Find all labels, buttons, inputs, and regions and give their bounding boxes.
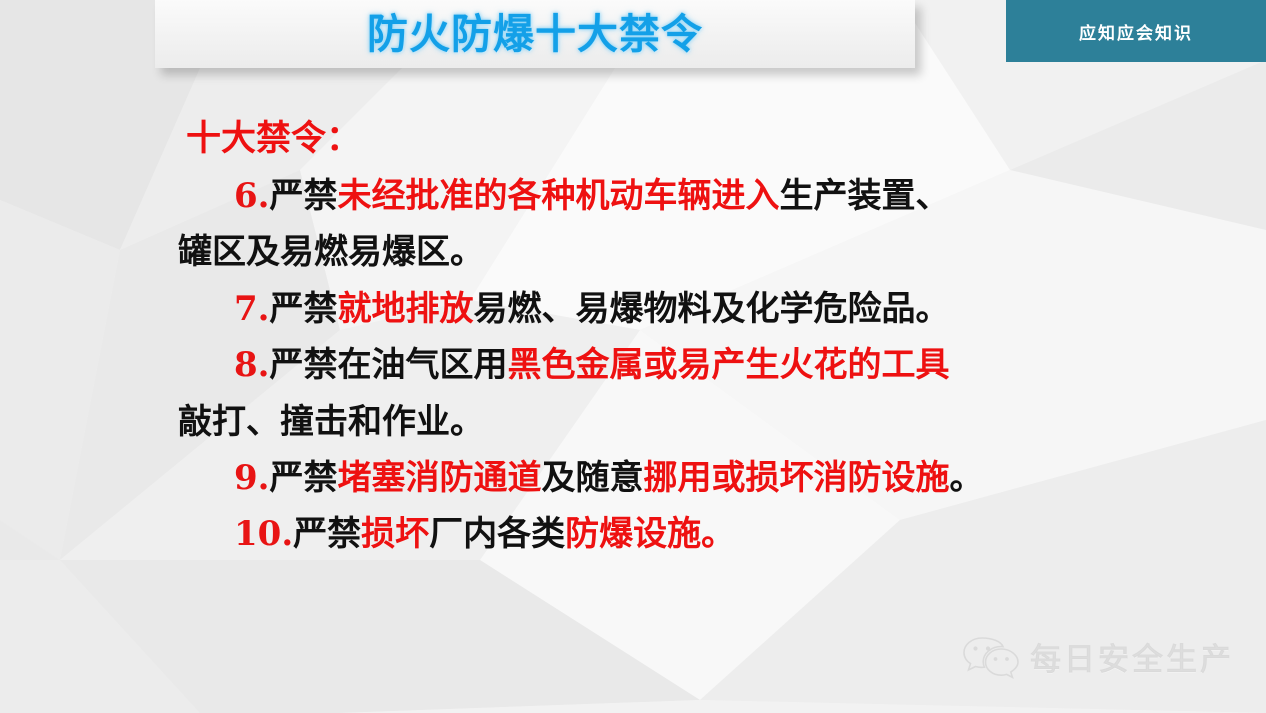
rule-line: 9.严禁堵塞消防通道及随意挪用或损坏消防设施。 [0, 450, 1266, 506]
rule-line: 10.严禁损坏厂内各类防爆设施。 [0, 506, 1266, 562]
title-banner: 防火防爆十大禁令 [155, 0, 915, 68]
rule-segment: 。 [950, 458, 984, 498]
rule-segment: 堵塞消防通道 [338, 458, 542, 498]
slide-canvas: 防火防爆十大禁令 应知应会知识 十大禁令： 6.严禁未经批准的各种机动车辆进入生… [0, 0, 1266, 713]
rule-segment: 防爆设施。 [565, 514, 735, 554]
rule-line: 7.严禁就地排放易燃、易爆物料及化学危险品。 [0, 281, 1266, 337]
wechat-icon [962, 635, 1020, 679]
rule-segment: 严禁在油气区用 [270, 345, 508, 385]
corner-badge: 应知应会知识 [1006, 0, 1266, 62]
rule-segment: 损坏 [361, 514, 429, 554]
rule-number: 7. [234, 289, 270, 329]
rule-number: 9. [234, 458, 270, 498]
watermark-label: 每日安全生产 [1030, 634, 1234, 679]
rule-segment: 严禁 [293, 514, 361, 554]
rule-segment: 严禁 [270, 289, 338, 329]
rule-line: 敲打、撞击和作业。 [0, 394, 1266, 450]
page-title: 防火防爆十大禁令 [367, 14, 703, 55]
rule-line: 6.严禁未经批准的各种机动车辆进入生产装置、 [0, 168, 1266, 224]
rule-number: 6. [234, 176, 270, 216]
rule-number: 8. [234, 345, 270, 385]
rule-segment: 厂内各类 [429, 514, 565, 554]
rule-line: 罐区及易燃易爆区。 [0, 224, 1266, 280]
rule-segment: 罐区及易燃易爆区。 [178, 232, 484, 272]
rule-segment: 黑色金属或易产生火花的工具 [508, 345, 950, 385]
rule-segment: 未经批准的各种机动车辆进入 [338, 176, 780, 216]
content-body: 十大禁令： 6.严禁未经批准的各种机动车辆进入生产装置、罐区及易燃易爆区。7.严… [0, 118, 1266, 563]
rules-list: 6.严禁未经批准的各种机动车辆进入生产装置、罐区及易燃易爆区。7.严禁就地排放易… [0, 168, 1266, 563]
rule-segment: 严禁 [270, 176, 338, 216]
rule-segment: 就地排放 [338, 289, 474, 329]
rule-segment: 易燃、易爆物料及化学危险品。 [474, 289, 950, 329]
section-heading: 十大禁令： [186, 118, 1266, 162]
rule-segment: 严禁 [270, 458, 338, 498]
rule-segment: 及随意 [542, 458, 644, 498]
corner-badge-label: 应知应会知识 [1079, 19, 1193, 44]
watermark: 每日安全生产 [962, 634, 1234, 679]
rule-line: 8.严禁在油气区用黑色金属或易产生火花的工具 [0, 337, 1266, 393]
rule-number: 10. [234, 514, 293, 554]
rule-segment: 生产装置、 [780, 176, 950, 216]
rule-segment: 挪用或损坏消防设施 [644, 458, 950, 498]
rule-segment: 敲打、撞击和作业。 [178, 402, 484, 442]
